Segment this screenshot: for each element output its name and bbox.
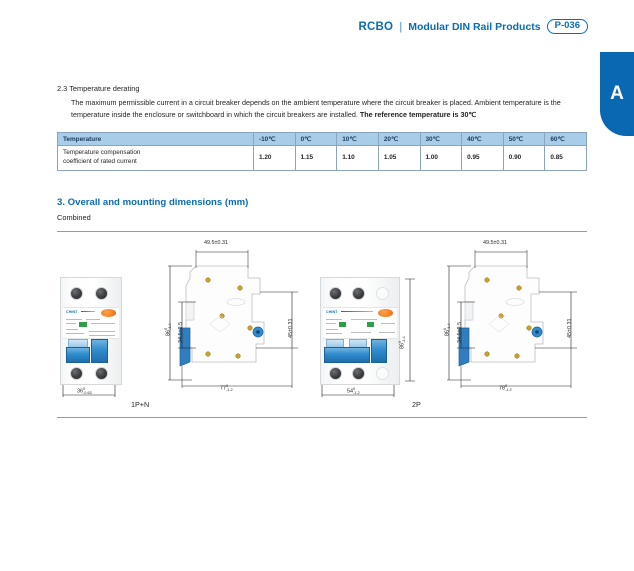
table-row: Temperature compensation coefficient of … — [58, 146, 587, 170]
chint-logo: CHINT — [66, 310, 77, 314]
dim-value: 86 — [165, 330, 171, 336]
product-label-panel: CHINT — [63, 307, 119, 339]
label-text-line — [91, 323, 115, 324]
table-header-col-4: 30℃ — [420, 133, 462, 146]
height-dimension-line-2p-front — [402, 275, 418, 387]
width-dimension-line-2p — [315, 385, 405, 399]
paragraph-line-1: The maximum permissible current in a cir… — [71, 98, 448, 107]
rivet — [236, 353, 241, 358]
table-header-col-3: 20℃ — [378, 133, 420, 146]
cell-value-0: 1.20 — [254, 146, 296, 170]
table-header-col-2: 10℃ — [337, 133, 379, 146]
index-tab-letter: A — [610, 83, 624, 105]
figure-1pn-side-view: 49.5±0.31 860-1.4 34.5±0.5 45±0.31 770-1… — [152, 236, 312, 396]
test-button-center — [535, 330, 539, 334]
terminal-screw-top-right — [352, 287, 365, 300]
terminal-screw-top-left — [70, 287, 83, 300]
dim-2p-height: 860-1.4 — [443, 323, 451, 336]
toggle-lever-ganged[interactable] — [324, 347, 370, 363]
cell-value-5: 0.95 — [462, 146, 504, 170]
dim-1pn-mounting: 34.5±0.5 — [178, 322, 184, 343]
terminal-screw-bottom-left — [70, 367, 83, 380]
table-header-temperature: Temperature — [58, 133, 254, 146]
product-label-panel: CHINT — [323, 307, 397, 339]
label-schematic — [379, 332, 395, 333]
label-text-line — [351, 319, 377, 320]
dim-tol-lower: -1.4 — [402, 336, 406, 343]
figure-2p-side-view: 49.5±0.31 860-1.4 34.5±0.5 45±0.31 780-1… — [431, 236, 591, 396]
terminal-hole-bottom — [376, 367, 389, 380]
rivet — [485, 277, 490, 282]
row-label-line-1: Temperature compensation — [63, 149, 140, 156]
rivet — [515, 353, 520, 358]
dim-2p-mounting: 34.5±0.5 — [457, 322, 463, 343]
side-profile-drawing-1pn — [152, 236, 312, 396]
dim-1pn-front-width: 360-0.62 — [77, 387, 92, 395]
chint-logo: CHINT — [326, 310, 337, 314]
page-content: 2.3 Temperature derating The maximum per… — [57, 0, 587, 418]
figure-caption-2p: 2P — [412, 400, 421, 409]
green-indicator — [367, 322, 374, 327]
green-indicator — [339, 322, 346, 327]
terminal-screw-bottom-right — [95, 367, 108, 380]
cell-value-2: 1.10 — [337, 146, 379, 170]
label-text-line — [326, 323, 336, 324]
label-text-line — [86, 319, 100, 320]
dim-1pn-top-width: 49.5±0.31 — [204, 240, 228, 246]
table-header-col-6: 50℃ — [503, 133, 545, 146]
label-text-line — [66, 333, 84, 334]
label-text-line — [381, 323, 395, 324]
label-text-line — [326, 333, 342, 334]
terminal-screw-top-right — [95, 287, 108, 300]
table-header-col-0: -10℃ — [254, 133, 296, 146]
row-label-coefficient: Temperature compensation coefficient of … — [58, 146, 254, 170]
label-accent-bar — [81, 311, 95, 313]
section-index-tab[interactable]: A — [600, 52, 634, 136]
test-button-center — [256, 330, 260, 334]
cell-value-6: 0.90 — [503, 146, 545, 170]
mounting-notch — [465, 302, 473, 320]
dim-tol-lower: -1.4 — [447, 323, 451, 330]
figure-2p-front-view: CHINT — [320, 277, 400, 385]
mounting-notch — [186, 302, 194, 320]
toggle-lever-right[interactable] — [91, 339, 108, 363]
table-header-col-1: 0℃ — [295, 133, 337, 146]
side-profile-drawing-2p — [431, 236, 591, 396]
table-header-col-7: 60℃ — [545, 133, 587, 146]
breaker-side-outline — [465, 266, 543, 362]
rivet — [485, 351, 490, 356]
rivet — [248, 325, 253, 330]
label-accent-bar — [341, 311, 373, 313]
cell-value-3: 1.05 — [378, 146, 420, 170]
label-schematic — [89, 335, 115, 336]
terminal-screw-bottom-right — [352, 367, 365, 380]
label-text-line — [326, 329, 338, 330]
dim-2p-front-width: 540-1.2 — [347, 387, 360, 395]
dim-2p-depth: 45±0.31 — [567, 318, 573, 337]
dim-2p-base-depth: 780-1.2 — [499, 384, 512, 392]
divider-bottom — [57, 417, 587, 418]
row-label-line-2: coefficient of rated current — [63, 158, 137, 165]
dimension-drawings: CHINT — [57, 232, 587, 417]
section-3-title: 3. Overall and mounting dimensions (mm) — [57, 197, 587, 208]
section-3-subtitle: Combined — [57, 213, 587, 222]
table-header-row: Temperature -10℃ 0℃ 10℃ 20℃ 30℃ 40℃ 50℃ … — [58, 133, 587, 146]
rivet — [238, 285, 243, 290]
label-text-line — [66, 329, 78, 330]
dim-1pn-height: 860-1.4 — [164, 323, 172, 336]
section-2-3-title: 2.3 Temperature derating — [57, 84, 587, 93]
figure-caption-1pn: 1P+N — [131, 400, 149, 409]
terminal-hole-top — [376, 287, 389, 300]
cell-value-7: 0.85 — [545, 146, 587, 170]
dim-1pn-depth: 45±0.31 — [288, 318, 294, 337]
label-text-line — [326, 319, 342, 320]
dim-tol-lower: -1.2 — [353, 391, 360, 395]
label-text-line — [66, 323, 76, 324]
temperature-derating-table: Temperature -10℃ 0℃ 10℃ 20℃ 30℃ 40℃ 50℃ … — [57, 132, 587, 170]
rivet — [527, 325, 532, 330]
reference-temperature-note: The reference temperature is 30℃ — [360, 110, 477, 119]
orange-indicator — [101, 309, 116, 317]
section-2-3-body: The maximum permissible current in a cir… — [71, 97, 571, 120]
rivet — [206, 277, 211, 282]
green-indicator — [79, 322, 87, 327]
dim-tol-lower: -1.4 — [168, 323, 172, 330]
label-text-line — [66, 319, 82, 320]
rivet — [517, 285, 522, 290]
orange-indicator — [378, 309, 393, 317]
dim-tol-lower: -1.2 — [226, 388, 233, 392]
terminal-screw-bottom-left — [329, 367, 342, 380]
breaker-photo-1pn: CHINT — [60, 277, 122, 385]
rivet — [206, 351, 211, 356]
dim-1pn-base-depth: 770-1.2 — [220, 384, 233, 392]
cell-value-4: 1.00 — [420, 146, 462, 170]
cell-value-1: 1.15 — [295, 146, 337, 170]
dim-2p-front-height: 860-1.4 — [398, 336, 406, 349]
terminal-screw-top-left — [329, 287, 342, 300]
toggle-lever-aux[interactable] — [371, 339, 387, 363]
toggle-lever-left[interactable] — [66, 347, 90, 363]
table-header-col-5: 40℃ — [462, 133, 504, 146]
label-schematic — [351, 332, 371, 333]
dim-value: 86 — [444, 330, 450, 336]
dim-tol-lower: -0.62 — [83, 391, 92, 395]
figure-1pn-front-view: CHINT — [60, 277, 122, 385]
dim-tol-lower: -1.2 — [505, 388, 512, 392]
label-schematic — [89, 331, 115, 332]
dim-2p-top-width: 49.5±0.31 — [483, 240, 507, 246]
breaker-photo-2p: CHINT — [320, 277, 400, 385]
breaker-side-outline — [186, 266, 264, 362]
width-dimension-line-1pn — [56, 385, 128, 399]
dim-value: 86 — [399, 343, 405, 349]
